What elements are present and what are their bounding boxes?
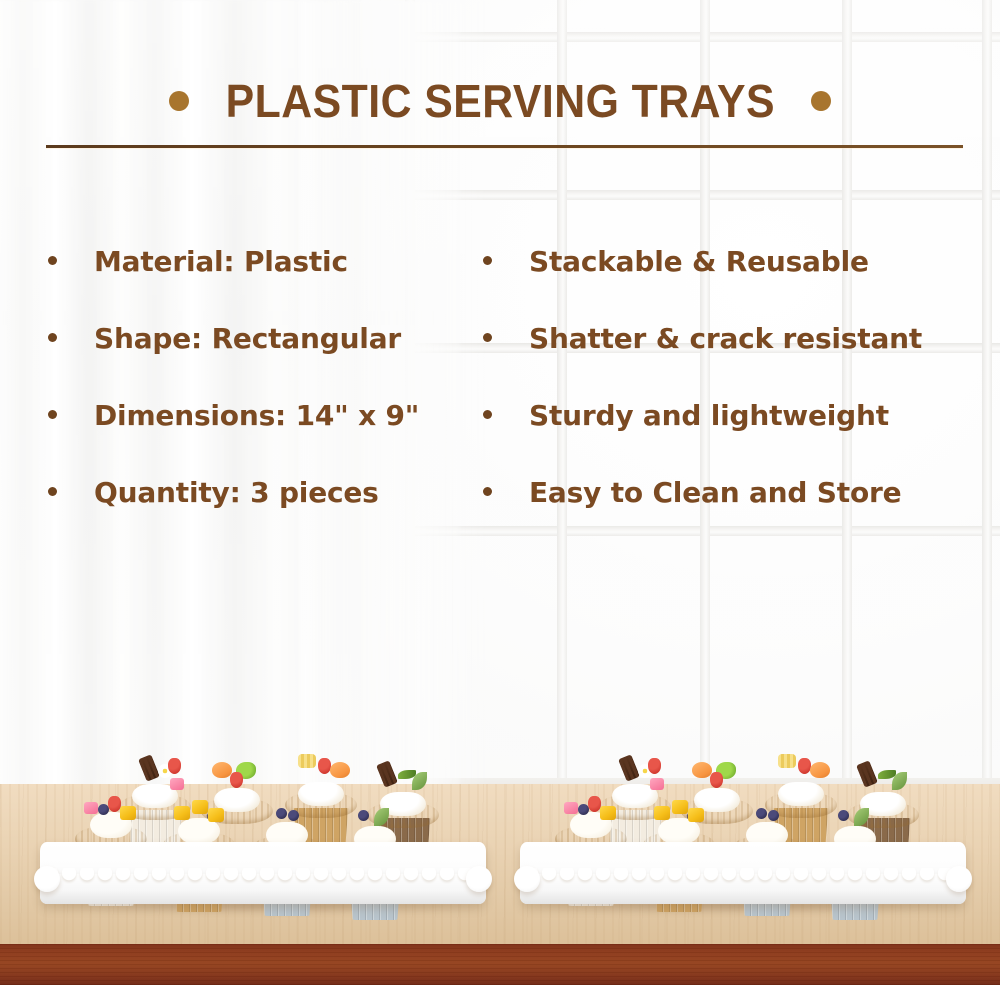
peach-garnish	[692, 762, 712, 778]
serving-tray-right	[508, 760, 978, 940]
title-divider	[46, 145, 963, 148]
mango-garnish	[672, 800, 688, 814]
cream-swirl	[778, 782, 824, 806]
tray-handle-left	[34, 866, 60, 892]
feature-label: Easy to Clean and Store	[529, 476, 901, 509]
plastic-tray	[40, 842, 486, 904]
feature-lists: Material: Plastic Shape: Rectangular Dim…	[0, 245, 1000, 545]
bullet-dot-icon	[483, 256, 492, 265]
list-item: Easy to Clean and Store	[483, 476, 950, 553]
wooden-table-edge	[0, 944, 1000, 985]
strawberry-garnish	[230, 772, 243, 788]
list-item: Sturdy and lightweight	[483, 399, 950, 476]
list-item: Shatter & crack resistant	[483, 322, 950, 399]
bullet-dot-icon	[811, 91, 831, 111]
tray-handle-right	[466, 866, 492, 892]
pineapple-garnish	[778, 754, 796, 768]
mango-garnish	[600, 806, 616, 820]
product-infographic: PLASTIC SERVING TRAYS Material: Plastic …	[0, 0, 1000, 985]
bullet-dot-icon	[48, 333, 57, 342]
feature-label: Dimensions: 14" x 9"	[94, 399, 419, 432]
pineapple-garnish	[298, 754, 316, 768]
mango-garnish	[174, 806, 190, 820]
feature-label: Material: Plastic	[94, 245, 348, 278]
page-title-row: PLASTIC SERVING TRAYS	[0, 74, 1000, 128]
feature-label: Shape: Rectangular	[94, 322, 401, 355]
blueberry-garnish	[358, 810, 369, 821]
mango-garnish	[192, 800, 208, 814]
tray-handle-left	[514, 866, 540, 892]
bullet-dot-icon	[169, 91, 189, 111]
tray-scalloped-edge	[522, 868, 964, 888]
strawberry-garnish	[648, 758, 661, 774]
mint-garnish	[892, 772, 907, 790]
mango-garnish	[654, 806, 670, 820]
bullet-dot-icon	[483, 487, 492, 496]
feature-label: Shatter & crack resistant	[529, 322, 922, 355]
blueberry-garnish	[288, 810, 299, 821]
bullet-dot-icon	[48, 410, 57, 419]
peach-garnish	[810, 762, 830, 778]
feature-column-right: Stackable & Reusable Shatter & crack res…	[470, 245, 950, 545]
feature-label: Stackable & Reusable	[529, 245, 869, 278]
mint-garnish	[412, 772, 427, 790]
strawberry-garnish	[318, 758, 331, 774]
bullet-dot-icon	[48, 487, 57, 496]
bullet-dot-icon	[483, 333, 492, 342]
feature-column-left: Material: Plastic Shape: Rectangular Dim…	[0, 245, 470, 545]
list-item: Stackable & Reusable	[483, 245, 950, 322]
page-title: PLASTIC SERVING TRAYS	[225, 74, 774, 128]
peach-garnish	[212, 762, 232, 778]
feature-label: Quantity: 3 pieces	[94, 476, 379, 509]
tray-handle-right	[946, 866, 972, 892]
bullet-dot-icon	[48, 256, 57, 265]
strawberry-garnish	[798, 758, 811, 774]
blueberry-garnish	[756, 808, 767, 819]
cream-swirl	[298, 782, 344, 806]
mango-garnish	[688, 808, 704, 822]
chocolate-garnish	[376, 760, 398, 787]
chocolate-garnish	[856, 760, 878, 787]
tray-scalloped-edge	[42, 868, 484, 888]
mango-garnish	[208, 808, 224, 822]
blueberry-garnish	[838, 810, 849, 821]
blueberry-garnish	[768, 810, 779, 821]
candy-garnish	[564, 802, 578, 814]
bullet-dot-icon	[483, 410, 492, 419]
feature-label: Sturdy and lightweight	[529, 399, 889, 432]
list-item: Quantity: 3 pieces	[48, 476, 470, 553]
candy-garnish	[650, 778, 664, 790]
candy-garnish	[84, 802, 98, 814]
candy-garnish	[170, 778, 184, 790]
blueberry-garnish	[276, 808, 287, 819]
list-item: Material: Plastic	[48, 245, 470, 322]
strawberry-garnish	[168, 758, 181, 774]
plastic-tray	[520, 842, 966, 904]
strawberry-garnish	[710, 772, 723, 788]
list-item: Shape: Rectangular	[48, 322, 470, 399]
peach-garnish	[330, 762, 350, 778]
mango-garnish	[120, 806, 136, 820]
serving-tray-left	[28, 760, 498, 940]
list-item: Dimensions: 14" x 9"	[48, 399, 470, 476]
